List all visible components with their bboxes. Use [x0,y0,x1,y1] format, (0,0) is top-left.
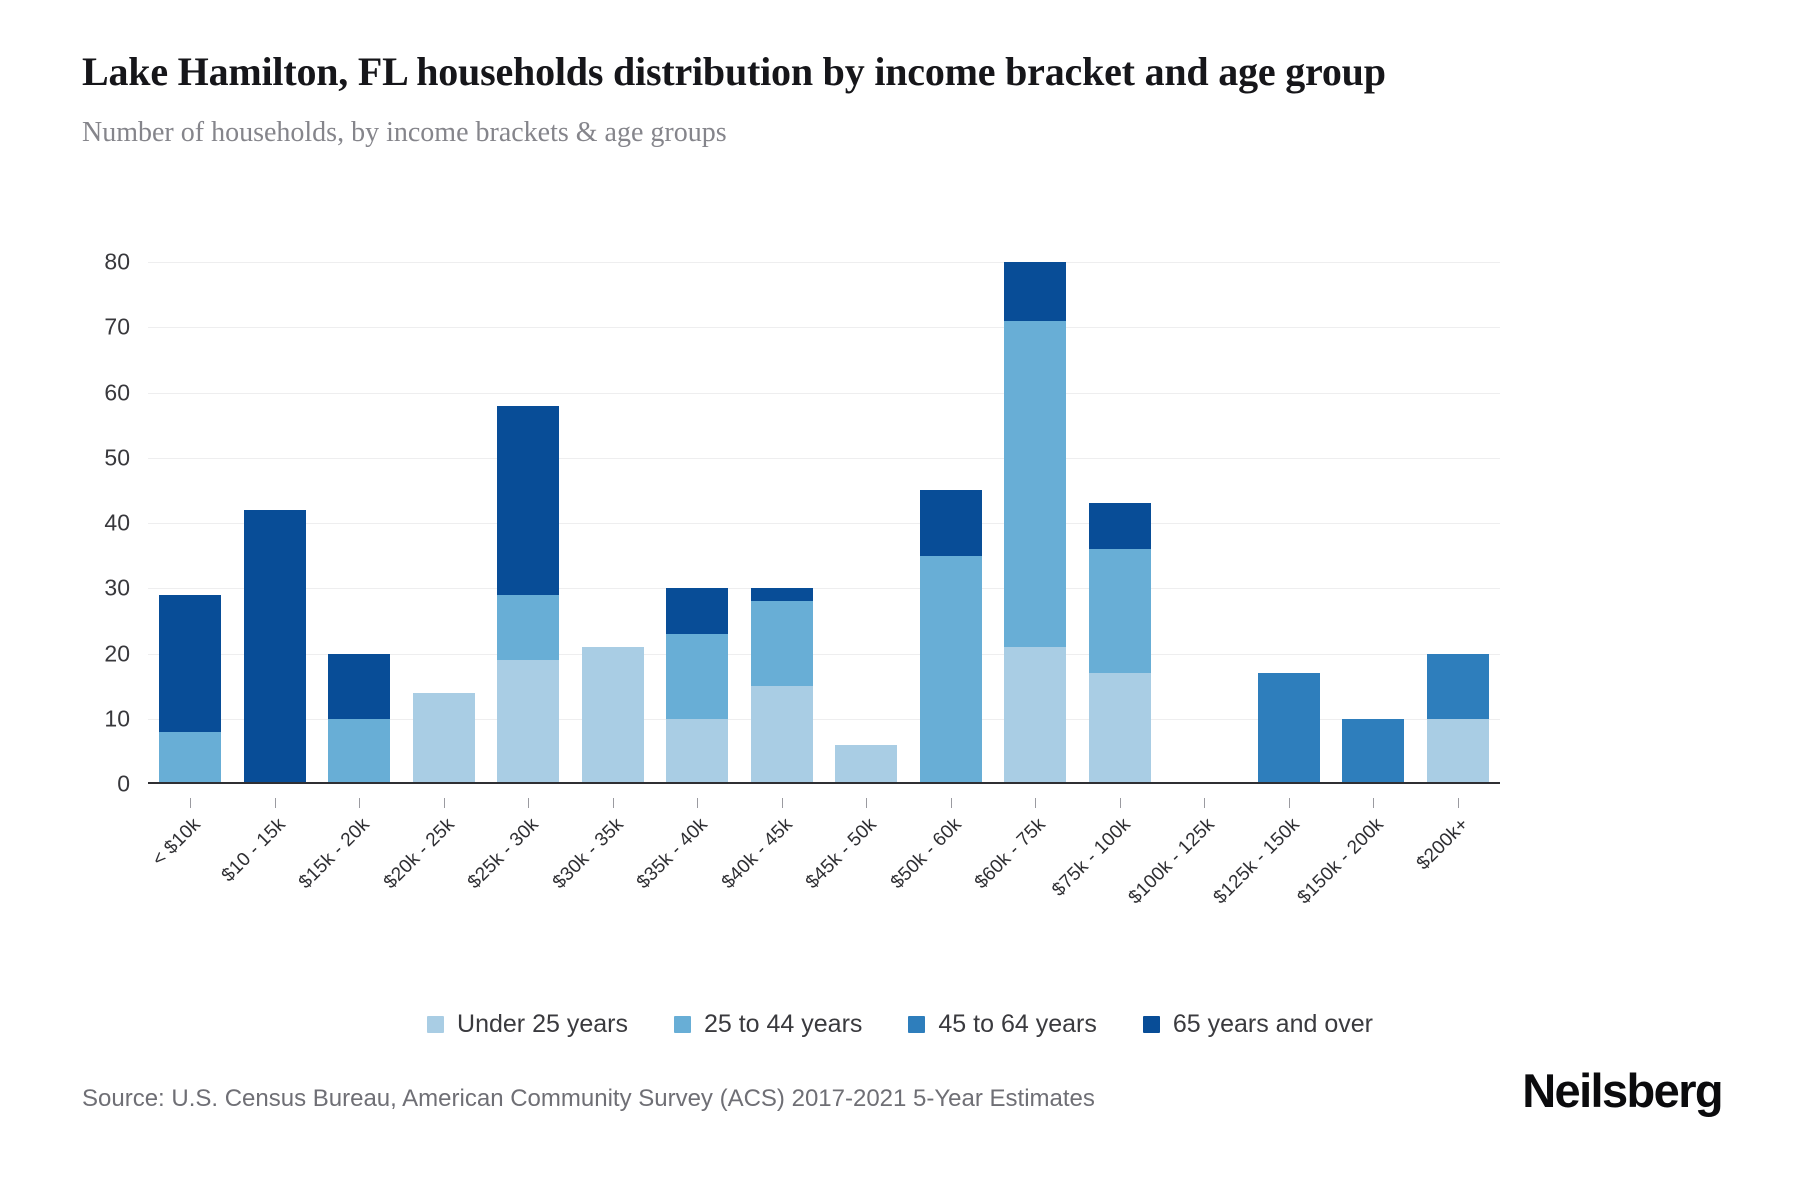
chart-page: Lake Hamilton, FL households distributio… [0,0,1800,1200]
bar-stack[interactable] [751,588,813,784]
legend-item[interactable]: 25 to 44 years [674,1010,862,1039]
x-axis-tick-mark [190,798,191,808]
bar-segment[interactable] [1427,719,1489,784]
bar-segment[interactable] [1342,719,1404,784]
y-axis-tick-label: 60 [104,379,130,406]
bar-stack[interactable] [159,595,221,784]
legend-item[interactable]: 65 years and over [1143,1010,1373,1039]
x-axis-tick-mark [1035,798,1036,808]
bar-column[interactable] [317,262,402,784]
legend-item-label: 25 to 44 years [704,1010,862,1039]
bar-segment[interactable] [751,601,813,686]
x-axis-tick-label: < $10k [149,814,206,871]
bar-stack[interactable] [1089,503,1151,784]
bar-stack[interactable] [328,654,390,785]
x-axis-tick: $40k - 45k [740,800,825,930]
x-axis-tick: $20k - 25k [402,800,487,930]
bar-segment[interactable] [1004,647,1066,784]
bar-segment[interactable] [1089,673,1151,784]
bar-segment[interactable] [1427,654,1489,719]
bar-column[interactable] [1416,262,1501,784]
bar-series-container [148,262,1500,784]
plot-inner [148,262,1500,784]
x-axis-tick: $150k - 200k [1331,800,1416,930]
x-axis-tick: $60k - 75k [993,800,1078,930]
bar-column[interactable] [909,262,994,784]
x-axis-tick-mark [866,798,867,808]
y-axis-tick-label: 10 [104,705,130,732]
x-axis-line [148,782,1500,784]
bar-stack[interactable] [1342,719,1404,784]
bar-column[interactable] [1247,262,1332,784]
legend-item[interactable]: Under 25 years [427,1010,628,1039]
bar-segment[interactable] [159,595,221,732]
x-axis-tick: $35k - 40k [655,800,740,930]
x-axis-tick-mark [1373,798,1374,808]
x-axis-tick: $30k - 35k [571,800,656,930]
y-axis-tick-label: 40 [104,510,130,537]
y-axis-tick-label: 30 [104,575,130,602]
bar-stack[interactable] [1427,654,1489,785]
bar-stack[interactable] [1258,673,1320,784]
bar-column[interactable] [824,262,909,784]
bar-segment[interactable] [582,647,644,784]
x-axis-tick: $50k - 60k [909,800,994,930]
y-axis-tick-label: 0 [117,771,130,798]
bar-segment[interactable] [328,654,390,719]
bar-column[interactable] [1078,262,1163,784]
bar-stack[interactable] [920,490,982,784]
x-axis-tick: < $10k [148,800,233,930]
bar-segment[interactable] [244,510,306,784]
bar-segment[interactable] [497,660,559,784]
bar-stack[interactable] [413,693,475,784]
x-axis-tick-label: $200k+ [1412,814,1473,875]
x-axis-tick-mark [1204,798,1205,808]
legend-swatch-icon [427,1016,444,1033]
bar-segment[interactable] [1089,549,1151,673]
legend-item[interactable]: 45 to 64 years [908,1010,1096,1039]
bar-segment[interactable] [751,588,813,601]
bar-stack[interactable] [582,647,644,784]
bar-segment[interactable] [1004,262,1066,321]
x-axis-tick: $10 - 15k [233,800,318,930]
bar-column[interactable] [233,262,318,784]
x-axis-tick-mark [444,798,445,808]
x-axis-tick-mark [951,798,952,808]
x-axis-tick-mark [528,798,529,808]
legend-swatch-icon [908,1016,925,1033]
bar-segment[interactable] [328,719,390,784]
y-axis-tick-label: 70 [104,314,130,341]
chart-footer: Source: U.S. Census Bureau, American Com… [82,1085,1722,1113]
x-axis-tick-mark [1289,798,1290,808]
bar-segment[interactable] [835,745,897,784]
bar-column[interactable] [993,262,1078,784]
chart-legend: Under 25 years25 to 44 years45 to 64 yea… [0,1010,1800,1039]
legend-swatch-icon [1143,1016,1160,1033]
plot-area: 01020304050607080 [0,238,1800,798]
bar-segment[interactable] [159,732,221,784]
bar-segment[interactable] [1089,503,1151,549]
x-axis-tick-mark [613,798,614,808]
bar-segment[interactable] [666,634,728,719]
source-note: Source: U.S. Census Bureau, American Com… [82,1085,1095,1113]
bar-column[interactable] [571,262,656,784]
x-axis-tick-mark [359,798,360,808]
y-axis-tick-label: 80 [104,249,130,276]
bar-segment[interactable] [413,693,475,784]
bar-stack[interactable] [244,510,306,784]
bar-column[interactable] [655,262,740,784]
bar-column[interactable] [402,262,487,784]
bar-segment[interactable] [920,490,982,555]
y-axis-tick-label: 20 [104,640,130,667]
x-axis-labels: < $10k$10 - 15k$15k - 20k$20k - 25k$25k … [148,800,1500,930]
bar-column[interactable] [1331,262,1416,784]
x-axis-tick: $125k - 150k [1247,800,1332,930]
x-axis-tick-mark [697,798,698,808]
y-axis-labels: 01020304050607080 [62,262,130,784]
x-axis-tick: $100k - 125k [1162,800,1247,930]
bar-column[interactable] [1162,262,1247,784]
page-title: Lake Hamilton, FL households distributio… [82,48,1412,95]
x-axis-tick-mark [275,798,276,808]
bar-segment[interactable] [666,719,728,784]
bar-column[interactable] [486,262,571,784]
x-axis-tick: $75k - 100k [1078,800,1163,930]
bar-segment[interactable] [497,595,559,660]
x-axis-tick-mark [1458,798,1459,808]
x-axis-tick: $25k - 30k [486,800,571,930]
bar-segment[interactable] [1004,321,1066,647]
x-axis-tick: $15k - 20k [317,800,402,930]
legend-item-label: 45 to 64 years [938,1010,1096,1039]
bar-segment[interactable] [920,556,982,784]
bar-stack[interactable] [835,745,897,784]
bar-stack[interactable] [497,406,559,784]
bar-column[interactable] [148,262,233,784]
legend-item-label: 65 years and over [1173,1010,1373,1039]
legend-item-label: Under 25 years [457,1010,628,1039]
x-axis-tick: $45k - 50k [824,800,909,930]
bar-segment[interactable] [497,406,559,595]
x-axis-tick-mark [782,798,783,808]
bar-stack[interactable] [1004,262,1066,784]
bar-segment[interactable] [751,686,813,784]
x-axis-tick: $200k+ [1416,800,1501,930]
bar-column[interactable] [740,262,825,784]
y-axis-tick-label: 50 [104,444,130,471]
bar-segment[interactable] [666,588,728,634]
brand-logo: Neilsberg [1522,1063,1722,1118]
bar-stack[interactable] [666,588,728,784]
x-axis-tick-mark [1120,798,1121,808]
chart-header: Lake Hamilton, FL households distributio… [82,48,1642,149]
legend-swatch-icon [674,1016,691,1033]
chart-subtitle: Number of households, by income brackets… [82,117,1642,149]
bar-segment[interactable] [1258,673,1320,784]
